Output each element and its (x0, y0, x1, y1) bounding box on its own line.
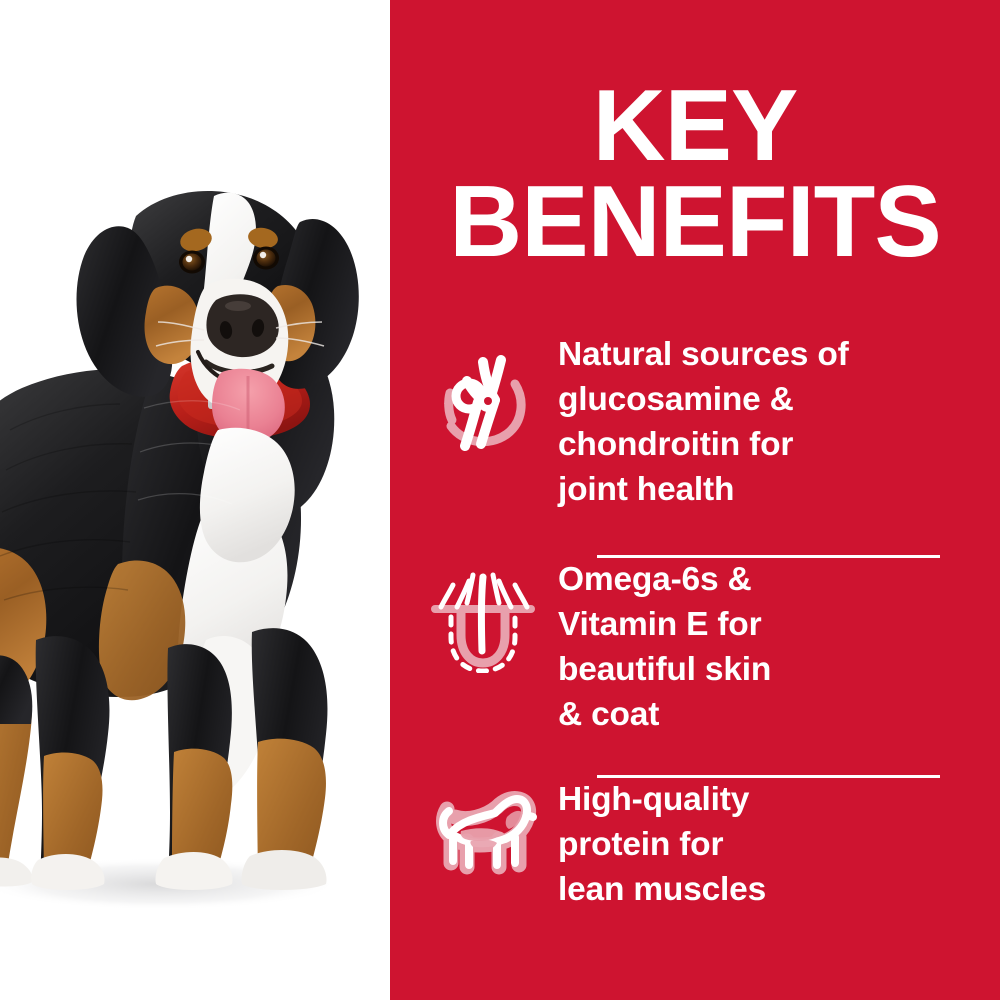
benefit-line: glucosamine & (558, 377, 849, 422)
benefit-line: joint health (558, 467, 849, 512)
benefit-line: protein for (558, 822, 766, 867)
dog-muscle-icon-wrap (408, 775, 558, 883)
page-title: KEY BENEFITS (390, 78, 1000, 270)
benefit-text-joint-health: Natural sources of glucosamine & chondro… (558, 330, 849, 512)
benefit-line: chondroitin for (558, 422, 849, 467)
key-benefits-graphic: KEY BENEFITS (0, 0, 1000, 1000)
page-title-line-1: KEY (390, 78, 1000, 174)
benefit-list: Natural sources of glucosamine & chondro… (390, 330, 1000, 955)
benefit-line: lean muscles (558, 867, 766, 912)
benefit-text-skin-coat: Omega-6s & Vitamin E for beautiful skin … (558, 555, 771, 737)
joint-rotation-icon-wrap (408, 330, 558, 452)
hair-follicle-icon-wrap (408, 555, 558, 673)
benefit-item-lean-muscles: High-quality protein for lean muscles (390, 775, 1000, 955)
benefits-panel: KEY BENEFITS (390, 0, 1000, 1000)
benefit-text-lean-muscles: High-quality protein for lean muscles (558, 775, 766, 912)
dog-muscle-icon (427, 787, 539, 883)
dog-photo (0, 0, 390, 1000)
benefit-line: & coat (558, 692, 771, 737)
benefit-line: Omega-6s & (558, 557, 771, 602)
joint-rotation-icon (431, 348, 535, 452)
benefit-divider (597, 555, 940, 558)
benefit-line: beautiful skin (558, 647, 771, 692)
page-title-line-2: BENEFITS (390, 174, 1000, 270)
benefit-item-joint-health: Natural sources of glucosamine & chondro… (390, 330, 1000, 555)
benefit-item-skin-coat: Omega-6s & Vitamin E for beautiful skin … (390, 555, 1000, 775)
benefit-divider (597, 775, 940, 778)
hair-follicle-icon (429, 569, 537, 673)
benefit-line: Natural sources of (558, 332, 849, 377)
dog-photo-panel (0, 0, 390, 1000)
benefit-line: Vitamin E for (558, 602, 771, 647)
benefit-line: High-quality (558, 777, 766, 822)
